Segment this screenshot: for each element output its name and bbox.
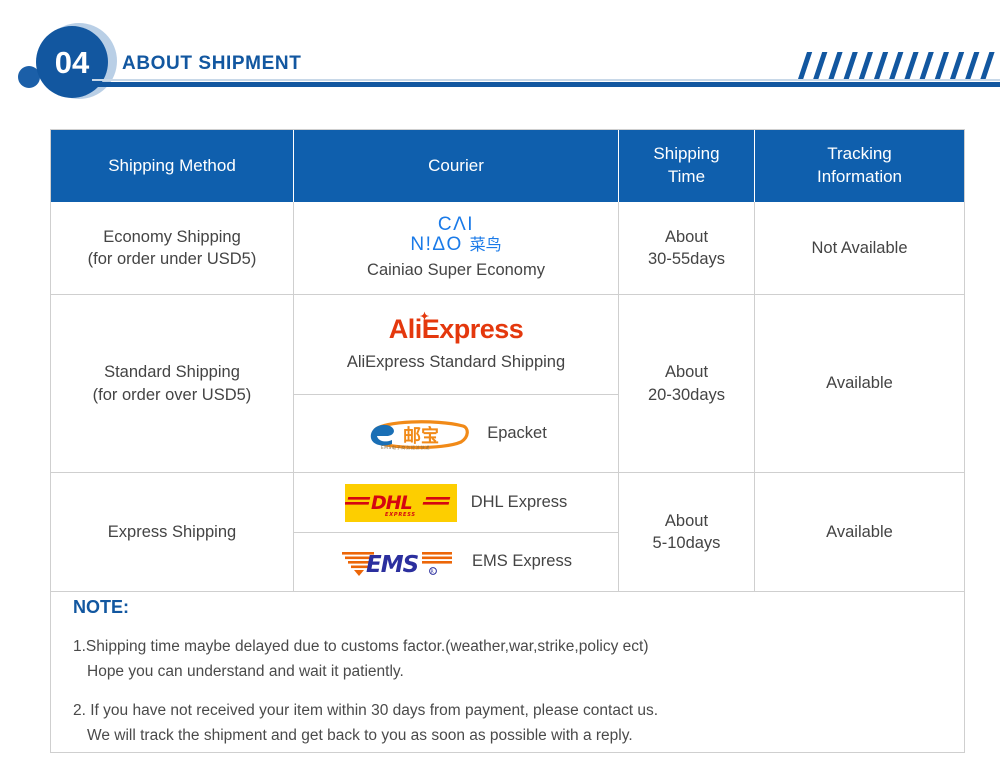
sparkle-icon: ✦ xyxy=(420,313,429,322)
courier-name: EMS Express xyxy=(472,550,572,572)
shipping-method-line1: Economy Shipping xyxy=(88,226,257,248)
cell-tracking-information: Not Available xyxy=(755,202,964,295)
courier-entry-dhl: DHL EXPRESS DHL Express xyxy=(294,474,618,533)
table-header-row: Shipping Method Courier Shipping Time Tr… xyxy=(51,130,964,202)
shipping-table: Shipping Method Courier Shipping Time Tr… xyxy=(50,129,965,592)
shipping-method-line1: Standard Shipping xyxy=(93,361,252,383)
ems-logo: EMS R xyxy=(340,545,458,579)
note-item-line2: We will track the shipment and get back … xyxy=(73,723,944,748)
svg-text:EXPRESS: EXPRESS xyxy=(385,512,416,518)
cell-tracking-information: Available xyxy=(755,473,964,591)
shipping-time-line2: 5-10days xyxy=(653,532,721,554)
column-header-tracking-line1: Tracking xyxy=(817,143,902,166)
cell-shipping-time: About 30-55days xyxy=(619,202,755,295)
column-header-tracking-information: Tracking Information xyxy=(755,130,964,202)
note-item-line2: Hope you can understand and wait it pati… xyxy=(73,659,944,684)
shipping-time-line2: 20-30days xyxy=(648,384,725,406)
note-title: NOTE: xyxy=(73,597,944,618)
header-rule xyxy=(92,82,1000,87)
cell-shipping-method: Standard Shipping (for order over USD5) xyxy=(51,295,294,473)
section-header: 04 ABOUT SHIPMENT xyxy=(0,0,1000,112)
note-section: NOTE: 1.Shipping time maybe delayed due … xyxy=(50,583,965,753)
note-item-line1: 1.Shipping time maybe delayed due to cus… xyxy=(73,638,649,655)
note-item: 2. If you have not received your item wi… xyxy=(73,698,944,748)
shipping-method-line2: (for order over USD5) xyxy=(93,384,252,406)
cell-shipping-time: About 20-30days xyxy=(619,295,755,473)
column-header-shipping-time-line2: Time xyxy=(653,166,719,189)
note-item-line1: 2. If you have not received your item wi… xyxy=(73,702,658,719)
shipping-time-line2: 30-55days xyxy=(648,248,725,270)
aliexpress-logo: ✦ AliExpress xyxy=(389,316,524,343)
column-header-shipping-time-line1: Shipping xyxy=(653,143,719,166)
column-header-courier: Courier xyxy=(294,130,619,202)
column-header-tracking-line2: Information xyxy=(817,166,902,189)
cell-shipping-time: About 5-10days xyxy=(619,473,755,591)
cell-courier: CΛI N!ΔO 菜鸟 Cainiao Super Economy xyxy=(294,202,619,295)
cell-courier: ✦ AliExpress AliExpress Standard Shippin… xyxy=(294,295,619,473)
cell-courier: DHL EXPRESS DHL Express xyxy=(294,473,619,591)
aliexpress-logo-text: AliExpress xyxy=(389,314,524,344)
shipping-time-line1: About xyxy=(648,361,725,383)
shipping-method-line1: Express Shipping xyxy=(108,521,236,543)
table-row: Economy Shipping (for order under USD5) … xyxy=(51,202,964,295)
cainiao-logo: CΛI N!ΔO 菜鸟 xyxy=(410,215,501,255)
svg-text:EMS电子商务经济快递: EMS电子商务经济快递 xyxy=(381,444,430,451)
badge-circle: 04 xyxy=(36,26,108,98)
column-header-shipping-time: Shipping Time xyxy=(619,130,755,202)
cell-tracking-information: Available xyxy=(755,295,964,473)
epacket-logo: 邮宝 EMS电子商务经济快递 xyxy=(365,417,473,451)
courier-name: DHL Express xyxy=(471,491,568,513)
svg-text:EMS: EMS xyxy=(366,552,419,578)
diagonal-stripes-decoration xyxy=(796,52,1000,79)
courier-name: Cainiao Super Economy xyxy=(367,259,545,281)
shipping-time-line1: About xyxy=(648,226,725,248)
table-row: Standard Shipping (for order over USD5) … xyxy=(51,295,964,473)
courier-entry-aliexpress: ✦ AliExpress AliExpress Standard Shippin… xyxy=(294,295,618,395)
cell-shipping-method: Economy Shipping (for order under USD5) xyxy=(51,202,294,295)
courier-name: AliExpress Standard Shipping xyxy=(347,351,565,373)
shipping-method-line2: (for order under USD5) xyxy=(88,248,257,270)
cainiao-logo-line2: N!ΔO xyxy=(410,234,462,255)
header-rule-light xyxy=(92,79,1000,81)
courier-name: Epacket xyxy=(487,422,547,444)
courier-entry-ems: EMS R EMS Express xyxy=(294,533,618,591)
courier-entry-epacket: 邮宝 EMS电子商务经济快递 Epacket xyxy=(294,395,618,472)
table-row: Express Shipping xyxy=(51,473,964,591)
page-title: ABOUT SHIPMENT xyxy=(122,53,301,75)
cainiao-logo-line1: CΛI xyxy=(410,215,501,235)
courier-entry-cainiao: CΛI N!ΔO 菜鸟 Cainiao Super Economy xyxy=(367,215,545,281)
note-item: 1.Shipping time maybe delayed due to cus… xyxy=(73,634,944,684)
svg-text:邮宝: 邮宝 xyxy=(403,425,439,447)
dhl-logo: DHL EXPRESS xyxy=(345,484,457,522)
shipping-time-line1: About xyxy=(653,510,721,532)
svg-text:DHL: DHL xyxy=(371,492,412,514)
column-header-shipping-method: Shipping Method xyxy=(51,130,294,202)
badge-number-label: 04 xyxy=(55,47,89,78)
cell-shipping-method: Express Shipping xyxy=(51,473,294,591)
svg-text:R: R xyxy=(431,569,434,575)
cainiao-logo-chinese: 菜鸟 xyxy=(470,237,502,254)
